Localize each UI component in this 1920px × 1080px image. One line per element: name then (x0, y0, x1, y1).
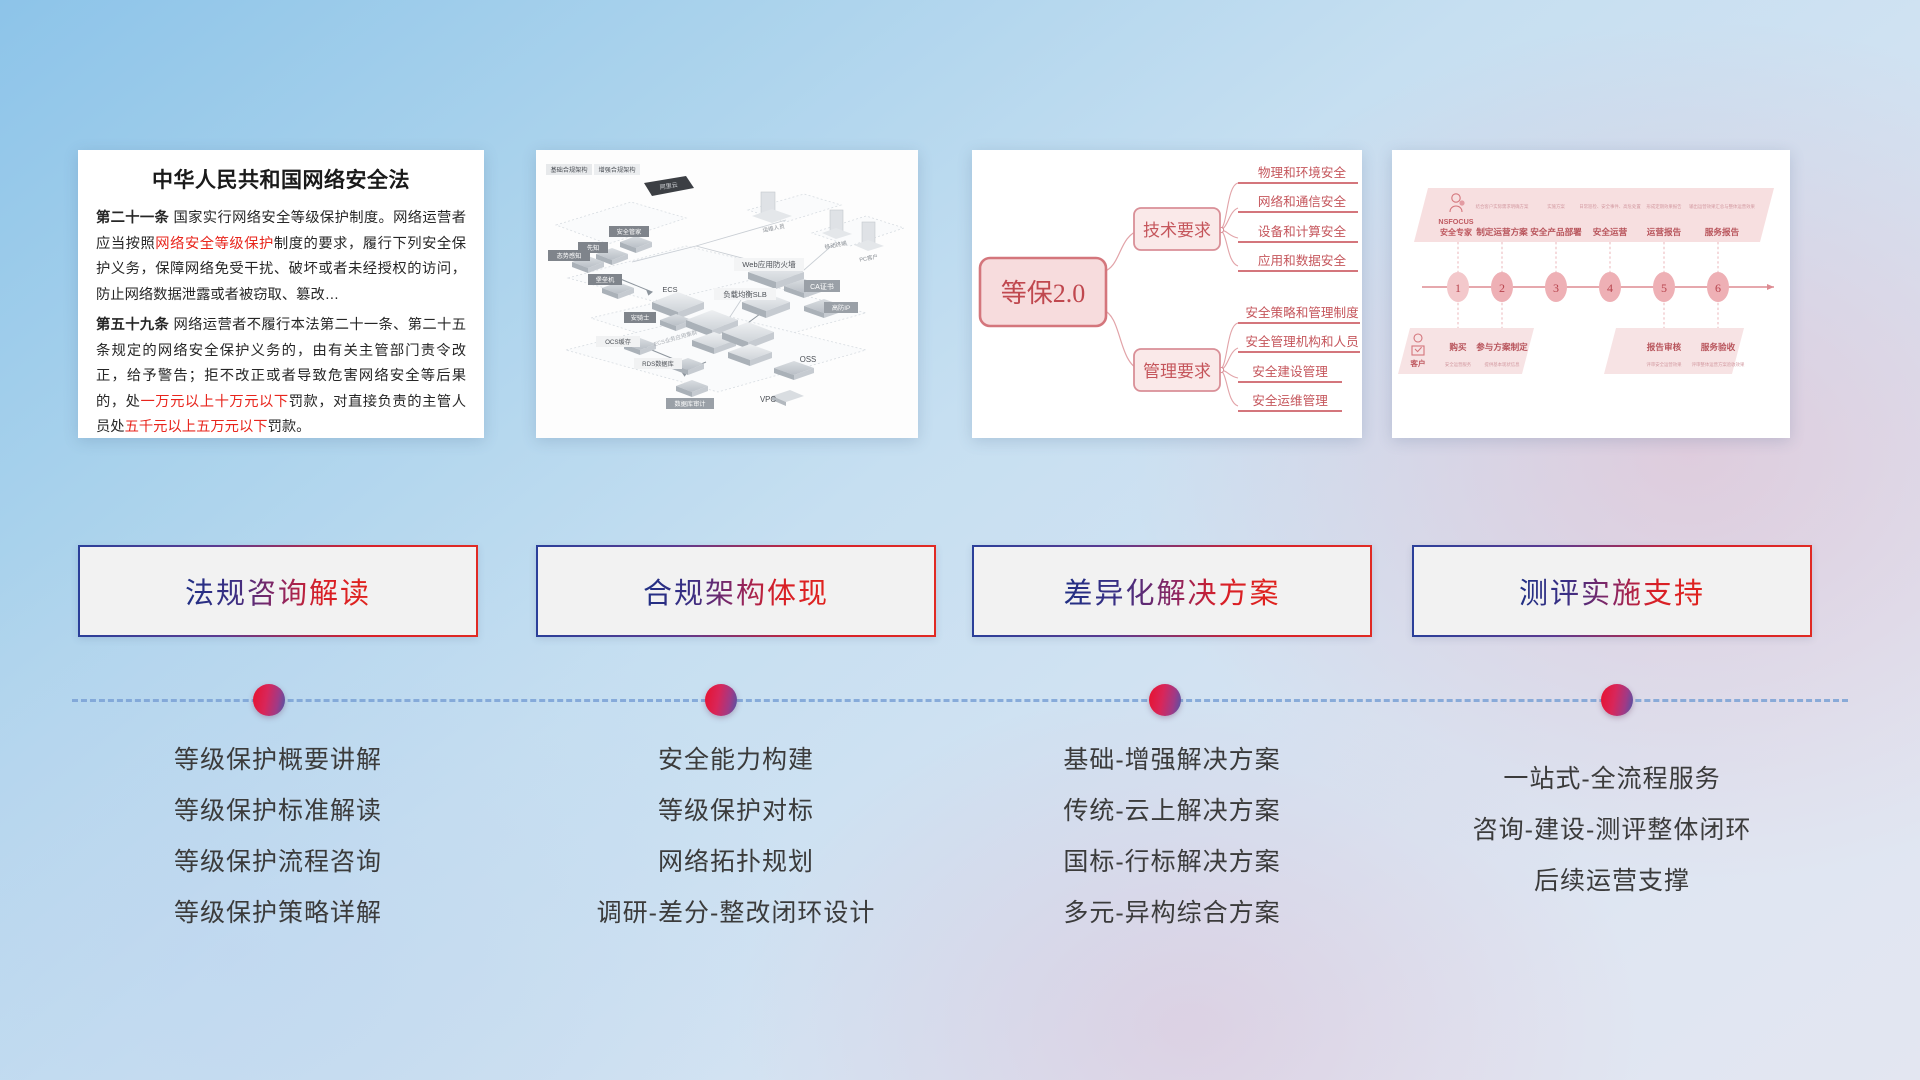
svg-text:安全管理机构和人员: 安全管理机构和人员 (1245, 334, 1358, 349)
list-item: 一站式-全流程服务 (1412, 754, 1812, 805)
svg-text:设备和计算安全: 设备和计算安全 (1258, 224, 1347, 239)
card-law-document[interactable]: 中华人民共和国网络安全法 第二十一条 国家实行网络安全等级保护制度。网络运营者应… (78, 150, 484, 438)
category-label: 合规架构体现 (643, 570, 829, 612)
step-note: 评审安全运营效果 (1646, 361, 1682, 368)
svg-text:负载均衡SLB: 负载均衡SLB (723, 290, 767, 299)
nsfocus-process-diagram: 1 2 3 4 5 6 NSFOCUS 安全专家 (1392, 150, 1790, 438)
law-article-59-label: 第五十九条 (96, 317, 169, 333)
svg-text:安全运维管理: 安全运维管理 (1252, 393, 1328, 408)
step-number: 1 (1455, 281, 1461, 295)
list-item: 传统-云上解决方案 (972, 786, 1372, 837)
list-item: 等级保护对标 (536, 786, 936, 837)
law-article-21-highlight: 网络安全等级保护 (155, 236, 274, 252)
svg-text:应用和数据安全: 应用和数据安全 (1258, 253, 1347, 268)
arch-node-label: Web应用防火墙 (734, 258, 804, 271)
svg-text:增强合规架构: 增强合规架构 (598, 166, 635, 174)
arch-node-label: 态势感知 (548, 250, 590, 261)
law-title: 中华人民共和国网络安全法 (96, 164, 466, 194)
arch-tab-enhanced[interactable]: 增强合规架构 (594, 164, 640, 175)
arch-node-label: VPC (760, 395, 776, 404)
expert-role: 安全专家 (1440, 227, 1473, 237)
list-item: 基础-增强解决方案 (972, 735, 1372, 786)
mindmap-root-label: 等保2.0 (1001, 279, 1086, 308)
expert-brand: NSFOCUS (1438, 217, 1473, 226)
architecture-svg: 基础合规架构 增强合规架构 阿里云 安全管家 先知 态势感知 堡垒机 ECS (536, 150, 918, 438)
step-number: 6 (1715, 281, 1721, 295)
step-note: 形成定期效果报告 (1646, 203, 1682, 210)
arch-node-label: RDS数据库 (634, 358, 682, 369)
mindmap-branch-node[interactable]: 技术要求 (1134, 208, 1220, 250)
category-button-row: 法规咨询解读 合规架构体现 差异化解决方案 测评实施支持 (0, 545, 1920, 637)
timeline-connector (0, 670, 1920, 730)
step-title: 服务验收 (1701, 341, 1736, 352)
list-item: 等级保护标准解读 (78, 786, 478, 837)
timeline-dot-2[interactable] (705, 684, 737, 716)
svg-text:OSS: OSS (800, 355, 816, 364)
step-title: 服务报告 (1705, 226, 1740, 237)
svg-text:数据库审计: 数据库审计 (675, 400, 706, 408)
list-item: 多元-异构综合方案 (972, 888, 1372, 939)
category-label: 差异化解决方案 (1063, 570, 1280, 612)
svg-text:安全建设管理: 安全建设管理 (1252, 364, 1328, 379)
svg-text:高防IP: 高防IP (832, 304, 850, 312)
law-article-21-label: 第二十一条 (96, 210, 169, 226)
law-article-59-highlight-b: 五千元以上五万元以下 (125, 419, 268, 435)
list-item: 调研-差分-整改闭环设计 (536, 888, 936, 939)
svg-text:基础合规架构: 基础合规架构 (550, 166, 587, 174)
law-article-59-highlight-a: 一万元以上十万元以下 (140, 394, 288, 410)
list-item: 等级保护策略详解 (78, 888, 478, 939)
list-item: 后续运营支撑 (1412, 856, 1812, 907)
detail-column-compliance-architecture: 安全能力构建 等级保护对标 网络拓扑规划 调研-差分-整改闭环设计 (536, 735, 936, 939)
card-nsfocus-process[interactable]: 1 2 3 4 5 6 NSFOCUS 安全专家 (1392, 150, 1790, 438)
arch-node-label: 负载均衡SLB (714, 288, 776, 300)
svg-text:Web应用防火墙: Web应用防火墙 (742, 259, 796, 269)
category-label: 测评实施支持 (1519, 570, 1705, 612)
step-title: 购买 (1449, 341, 1467, 352)
nsfocus-svg: 1 2 3 4 5 6 NSFOCUS 安全专家 (1392, 150, 1790, 438)
law-article-59-text-c: 罚款。 (268, 419, 311, 435)
step-number: 2 (1499, 281, 1505, 295)
arch-node-label: ECS (662, 285, 677, 294)
arch-node-label: 高防IP (824, 302, 858, 313)
timeline-dot-4[interactable] (1601, 684, 1633, 716)
category-button-compliance-architecture[interactable]: 合规架构体现 (536, 545, 936, 637)
step-number: 3 (1553, 281, 1559, 295)
svg-text:态势感知: 态势感知 (557, 252, 582, 260)
arch-node-label: 堡垒机 (588, 274, 622, 285)
step-note: 提供基本现状信息 (1484, 361, 1520, 368)
svg-text:OCS缓存: OCS缓存 (605, 338, 631, 346)
step-title: 安全运营 (1593, 226, 1628, 237)
svg-text:堡垒机: 堡垒机 (596, 276, 615, 284)
arch-node-label: 数据库审计 (666, 398, 714, 409)
category-button-differentiated-solution[interactable]: 差异化解决方案 (972, 545, 1372, 637)
law-body: 中华人民共和国网络安全法 第二十一条 国家实行网络安全等级保护制度。网络运营者应… (78, 150, 484, 438)
step-number: 5 (1661, 281, 1667, 295)
timeline-dashed-line (72, 699, 1848, 702)
arch-node-label: 安全管家 (609, 226, 649, 237)
svg-text:网络和通信安全: 网络和通信安全 (1258, 194, 1347, 209)
list-item: 国标-行标解决方案 (972, 837, 1372, 888)
svg-text:VPC: VPC (760, 395, 776, 404)
timeline-dot-1[interactable] (253, 684, 285, 716)
category-button-regulation-consulting[interactable]: 法规咨询解读 (78, 545, 478, 637)
step-note: 安全运营服务 (1445, 361, 1472, 368)
detail-column-differentiated-solution: 基础-增强解决方案 传统-云上解决方案 国标-行标解决方案 多元-异构综合方案 (972, 735, 1372, 939)
architecture-diagram: 基础合规架构 增强合规架构 阿里云 安全管家 先知 态势感知 堡垒机 ECS (536, 150, 918, 438)
detail-column-assessment-support: 一站式-全流程服务 咨询-建设-测评整体闭环 后续运营支撑 (1412, 735, 1812, 907)
arch-node-label: OSS (800, 355, 816, 364)
step-note: 实施方案 (1547, 203, 1565, 210)
svg-text:物理和环境安全: 物理和环境安全 (1258, 165, 1347, 180)
svg-text:ECS: ECS (662, 285, 677, 294)
svg-text:CA证书: CA证书 (810, 282, 834, 291)
arch-tab-basic[interactable]: 基础合规架构 (546, 164, 592, 175)
step-title: 制定运营方案 (1476, 226, 1528, 237)
card-mindmap-dengbao[interactable]: 等保2.0 技术要求 物理和环境安全 网络和通信安全 (972, 150, 1362, 438)
step-note: 输出运营效果汇总与整体运营效果 (1689, 203, 1755, 210)
step-title: 运营报告 (1647, 226, 1682, 237)
step-number: 4 (1607, 281, 1613, 295)
mindmap-branch-node[interactable]: 管理要求 (1134, 349, 1220, 391)
timeline-dot-3[interactable] (1149, 684, 1181, 716)
category-button-assessment-support[interactable]: 测评实施支持 (1412, 545, 1812, 637)
list-item: 安全能力构建 (536, 735, 936, 786)
step-note: 结合客户实际需求明确方案 (1476, 203, 1529, 210)
card-cloud-architecture[interactable]: 基础合规架构 增强合规架构 阿里云 安全管家 先知 态势感知 堡垒机 ECS (536, 150, 918, 438)
detail-column-row: 等级保护概要讲解 等级保护标准解读 等级保护流程咨询 等级保护策略详解 安全能力… (0, 735, 1920, 985)
mindmap-branch-label: 管理要求 (1143, 362, 1211, 381)
arch-node-label: CA证书 (804, 280, 840, 292)
customer-role: 客户 (1410, 358, 1425, 368)
arch-node-label: 安骑士 (624, 312, 656, 323)
mindmap-branch-label: 技术要求 (1143, 221, 1211, 240)
law-article-21: 第二十一条 国家实行网络安全等级保护制度。网络运营者应当按照网络安全等级保护制度… (96, 206, 466, 308)
list-item: 等级保护流程咨询 (78, 837, 478, 888)
preview-card-strip: 中华人民共和国网络安全法 第二十一条 国家实行网络安全等级保护制度。网络运营者应… (0, 150, 1920, 450)
step-title: 报告审核 (1647, 341, 1682, 352)
svg-text:安全管家: 安全管家 (617, 228, 642, 236)
list-item: 咨询-建设-测评整体闭环 (1412, 805, 1812, 856)
mindmap-diagram: 等保2.0 技术要求 物理和环境安全 网络和通信安全 (972, 150, 1362, 438)
step-title: 安全产品部署 (1530, 226, 1582, 237)
list-item: 等级保护概要讲解 (78, 735, 478, 786)
step-title: 参与方案制定 (1476, 341, 1528, 352)
mindmap-root-node[interactable]: 等保2.0 (980, 258, 1106, 326)
svg-text:RDS数据库: RDS数据库 (642, 360, 674, 368)
svg-text:安全策略和管理制度: 安全策略和管理制度 (1245, 305, 1359, 320)
law-article-59: 第五十九条 网络运营者不履行本法第二十一条、第二十五条规定的网络安全保护义务的，… (96, 313, 466, 438)
arch-node-label: OCS缓存 (596, 336, 640, 347)
list-item: 网络拓扑规划 (536, 837, 936, 888)
step-note: 评审整体运营方案验收效果 (1692, 361, 1745, 368)
svg-text:安骑士: 安骑士 (631, 314, 650, 322)
category-label: 法规咨询解读 (185, 570, 371, 612)
step-note: 日常巡检、安全事件、高危处置 (1579, 203, 1641, 210)
detail-column-regulation-consulting: 等级保护概要讲解 等级保护标准解读 等级保护流程咨询 等级保护策略详解 (78, 735, 478, 939)
mindmap-svg: 等保2.0 技术要求 物理和环境安全 网络和通信安全 (972, 150, 1362, 438)
